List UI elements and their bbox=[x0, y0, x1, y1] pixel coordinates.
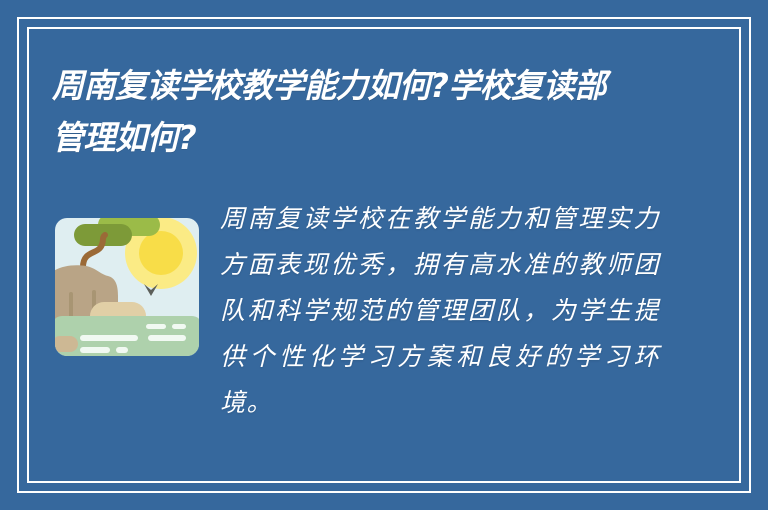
water-ripple bbox=[172, 324, 186, 329]
water-ripple bbox=[146, 324, 166, 329]
poster-body-text: 周南复读学校在教学能力和管理实力方面表现优秀，拥有高水准的教师团队和科学规范的管… bbox=[220, 196, 660, 426]
poster-title: 周南复读学校教学能力如何?学校复读部管理如何? bbox=[52, 60, 634, 164]
small-rock bbox=[52, 336, 78, 352]
landscape-illustration bbox=[52, 210, 202, 360]
poster-canvas: 周南复读学校教学能力如何?学校复读部管理如何? bbox=[0, 0, 768, 510]
water-ripple bbox=[116, 347, 128, 353]
poster-content-row: 周南复读学校在教学能力和管理实力方面表现优秀，拥有高水准的教师团队和科学规范的管… bbox=[52, 196, 716, 426]
sun-core bbox=[139, 231, 183, 275]
water-ripple bbox=[148, 335, 186, 341]
cliff-crack-1 bbox=[69, 292, 73, 318]
water-ripple bbox=[80, 347, 110, 353]
water-ripple bbox=[80, 335, 138, 341]
